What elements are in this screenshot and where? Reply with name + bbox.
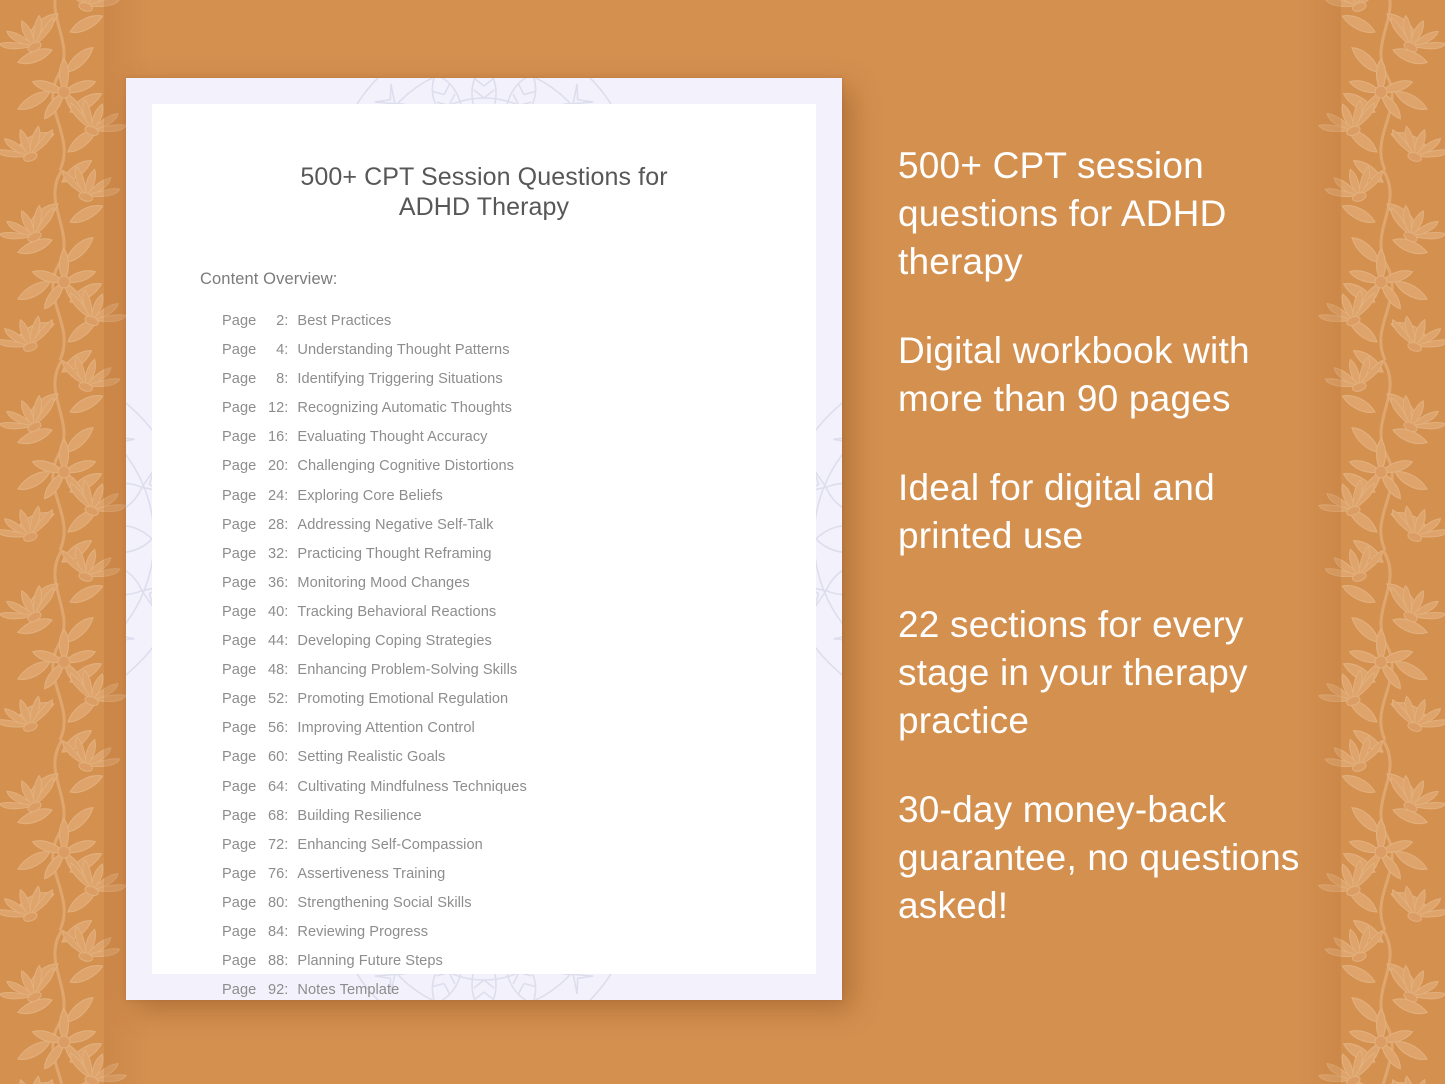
toc-row: Page40:Tracking Behavioral Reactions bbox=[222, 598, 772, 627]
toc-page-label: Page bbox=[222, 889, 256, 918]
toc-page-number: 2 bbox=[261, 307, 284, 336]
toc-page-number: 36 bbox=[261, 569, 284, 598]
toc-page-number: 48 bbox=[261, 656, 284, 685]
toc-row: Page28:Addressing Negative Self-Talk bbox=[222, 511, 772, 540]
toc-page-label: Page bbox=[222, 947, 256, 976]
page-title: 500+ CPT Session Questions for ADHD Ther… bbox=[196, 162, 772, 222]
promo-item: 22 sections for every stage in your ther… bbox=[898, 601, 1318, 745]
toc-colon: : bbox=[284, 685, 288, 714]
toc-page-number: 52 bbox=[261, 685, 284, 714]
toc-row: Page16:Evaluating Thought Accuracy bbox=[222, 423, 772, 452]
document-preview-card: 500+ CPT Session Questions for ADHD Ther… bbox=[126, 78, 842, 1000]
toc-page-label: Page bbox=[222, 627, 256, 656]
toc-page-label: Page bbox=[222, 976, 256, 1000]
toc-page-number: 88 bbox=[261, 947, 284, 976]
toc-colon: : bbox=[284, 598, 288, 627]
toc-row: Page44:Developing Coping Strategies bbox=[222, 627, 772, 656]
toc-page-label: Page bbox=[222, 714, 256, 743]
toc-topic: Planning Future Steps bbox=[297, 947, 442, 976]
toc-topic: Challenging Cognitive Distortions bbox=[297, 452, 514, 481]
toc-topic: Reviewing Progress bbox=[297, 918, 428, 947]
toc-colon: : bbox=[284, 482, 288, 511]
toc-colon: : bbox=[284, 569, 288, 598]
toc-row: Page64:Cultivating Mindfulness Technique… bbox=[222, 773, 772, 802]
toc-colon: : bbox=[284, 511, 288, 540]
toc-page-label: Page bbox=[222, 802, 256, 831]
toc-page-label: Page bbox=[222, 685, 256, 714]
toc-colon: : bbox=[284, 831, 288, 860]
toc-page-number: 72 bbox=[261, 831, 284, 860]
toc-row: Page8:Identifying Triggering Situations bbox=[222, 365, 772, 394]
toc-topic: Improving Attention Control bbox=[297, 714, 474, 743]
toc-colon: : bbox=[284, 452, 288, 481]
toc-page-number: 40 bbox=[261, 598, 284, 627]
toc-page-label: Page bbox=[222, 743, 256, 772]
toc-topic: Assertiveness Training bbox=[297, 860, 445, 889]
toc-topic: Enhancing Self-Compassion bbox=[297, 831, 482, 860]
toc-row: Page48:Enhancing Problem-Solving Skills bbox=[222, 656, 772, 685]
toc-page-number: 84 bbox=[261, 918, 284, 947]
promo-item: Ideal for digital and printed use bbox=[898, 464, 1318, 560]
toc-topic: Addressing Negative Self-Talk bbox=[297, 511, 493, 540]
toc-topic: Identifying Triggering Situations bbox=[297, 365, 502, 394]
toc-topic: Understanding Thought Patterns bbox=[297, 336, 509, 365]
toc-colon: : bbox=[284, 336, 288, 365]
toc-row: Page72:Enhancing Self-Compassion bbox=[222, 831, 772, 860]
toc-page-number: 4 bbox=[261, 336, 284, 365]
toc-topic: Enhancing Problem-Solving Skills bbox=[297, 656, 517, 685]
toc-topic: Tracking Behavioral Reactions bbox=[297, 598, 496, 627]
toc-row: Page56:Improving Attention Control bbox=[222, 714, 772, 743]
toc-page-number: 68 bbox=[261, 802, 284, 831]
toc-page-number: 92 bbox=[261, 976, 284, 1000]
toc-row: Page24:Exploring Core Beliefs bbox=[222, 482, 772, 511]
toc-colon: : bbox=[284, 947, 288, 976]
toc-colon: : bbox=[284, 860, 288, 889]
toc-colon: : bbox=[284, 773, 288, 802]
toc-page-number: 80 bbox=[261, 889, 284, 918]
promo-list: 500+ CPT session questions for ADHD ther… bbox=[898, 142, 1318, 930]
floral-vine-border-left bbox=[0, 0, 130, 1084]
toc-topic: Best Practices bbox=[297, 307, 391, 336]
toc-colon: : bbox=[284, 889, 288, 918]
toc-page-label: Page bbox=[222, 773, 256, 802]
toc-page-label: Page bbox=[222, 336, 256, 365]
floral-vine-border-right bbox=[1315, 0, 1445, 1084]
toc-page-label: Page bbox=[222, 452, 256, 481]
toc-page-label: Page bbox=[222, 656, 256, 685]
toc-row: Page88:Planning Future Steps bbox=[222, 947, 772, 976]
toc-page-label: Page bbox=[222, 394, 256, 423]
toc-topic: Building Resilience bbox=[297, 802, 421, 831]
toc-topic: Recognizing Automatic Thoughts bbox=[297, 394, 512, 423]
toc-topic: Strengthening Social Skills bbox=[297, 889, 471, 918]
toc-topic: Developing Coping Strategies bbox=[297, 627, 491, 656]
toc-row: Page52:Promoting Emotional Regulation bbox=[222, 685, 772, 714]
toc-colon: : bbox=[284, 656, 288, 685]
toc-topic: Exploring Core Beliefs bbox=[297, 482, 442, 511]
toc-page-label: Page bbox=[222, 482, 256, 511]
table-of-contents: Page2:Best PracticesPage4:Understanding … bbox=[222, 307, 772, 1000]
toc-colon: : bbox=[284, 423, 288, 452]
toc-colon: : bbox=[284, 918, 288, 947]
toc-page-label: Page bbox=[222, 569, 256, 598]
document-page: 500+ CPT Session Questions for ADHD Ther… bbox=[152, 104, 816, 974]
toc-page-label: Page bbox=[222, 598, 256, 627]
toc-row: Page20:Challenging Cognitive Distortions bbox=[222, 452, 772, 481]
toc-page-label: Page bbox=[222, 831, 256, 860]
toc-colon: : bbox=[284, 743, 288, 772]
toc-topic: Notes Template bbox=[297, 976, 399, 1000]
toc-page-number: 24 bbox=[261, 482, 284, 511]
toc-page-number: 16 bbox=[261, 423, 284, 452]
toc-row: Page92:Notes Template bbox=[222, 976, 772, 1000]
toc-page-label: Page bbox=[222, 423, 256, 452]
toc-page-number: 8 bbox=[261, 365, 284, 394]
toc-row: Page12:Recognizing Automatic Thoughts bbox=[222, 394, 772, 423]
toc-row: Page68:Building Resilience bbox=[222, 802, 772, 831]
toc-page-label: Page bbox=[222, 365, 256, 394]
toc-row: Page84:Reviewing Progress bbox=[222, 918, 772, 947]
promo-item: Digital workbook with more than 90 pages bbox=[898, 327, 1318, 423]
toc-colon: : bbox=[284, 714, 288, 743]
toc-colon: : bbox=[284, 802, 288, 831]
toc-page-number: 20 bbox=[261, 452, 284, 481]
toc-page-number: 44 bbox=[261, 627, 284, 656]
toc-row: Page4:Understanding Thought Patterns bbox=[222, 336, 772, 365]
toc-page-label: Page bbox=[222, 511, 256, 540]
toc-page-number: 60 bbox=[261, 743, 284, 772]
toc-page-label: Page bbox=[222, 540, 256, 569]
toc-row: Page60:Setting Realistic Goals bbox=[222, 743, 772, 772]
toc-page-label: Page bbox=[222, 918, 256, 947]
toc-colon: : bbox=[284, 540, 288, 569]
toc-row: Page80:Strengthening Social Skills bbox=[222, 889, 772, 918]
toc-row: Page36:Monitoring Mood Changes bbox=[222, 569, 772, 598]
promo-item: 30-day money-back guarantee, no question… bbox=[898, 786, 1318, 930]
content-overview-label: Content Overview: bbox=[200, 270, 772, 289]
toc-row: Page76:Assertiveness Training bbox=[222, 860, 772, 889]
toc-page-number: 76 bbox=[261, 860, 284, 889]
toc-colon: : bbox=[284, 394, 288, 423]
toc-colon: : bbox=[284, 976, 288, 1000]
toc-topic: Setting Realistic Goals bbox=[297, 743, 445, 772]
toc-page-number: 64 bbox=[261, 773, 284, 802]
toc-row: Page32:Practicing Thought Reframing bbox=[222, 540, 772, 569]
toc-topic: Evaluating Thought Accuracy bbox=[297, 423, 487, 452]
toc-topic: Promoting Emotional Regulation bbox=[297, 685, 508, 714]
toc-page-number: 32 bbox=[261, 540, 284, 569]
toc-page-number: 12 bbox=[261, 394, 284, 423]
toc-topic: Cultivating Mindfulness Techniques bbox=[297, 773, 526, 802]
promo-item: 500+ CPT session questions for ADHD ther… bbox=[898, 142, 1318, 286]
toc-topic: Practicing Thought Reframing bbox=[297, 540, 491, 569]
toc-colon: : bbox=[284, 307, 288, 336]
toc-colon: : bbox=[284, 365, 288, 394]
toc-page-label: Page bbox=[222, 307, 256, 336]
toc-topic: Monitoring Mood Changes bbox=[297, 569, 469, 598]
toc-colon: : bbox=[284, 627, 288, 656]
toc-page-number: 56 bbox=[261, 714, 284, 743]
toc-page-number: 28 bbox=[261, 511, 284, 540]
toc-row: Page2:Best Practices bbox=[222, 307, 772, 336]
toc-page-label: Page bbox=[222, 860, 256, 889]
